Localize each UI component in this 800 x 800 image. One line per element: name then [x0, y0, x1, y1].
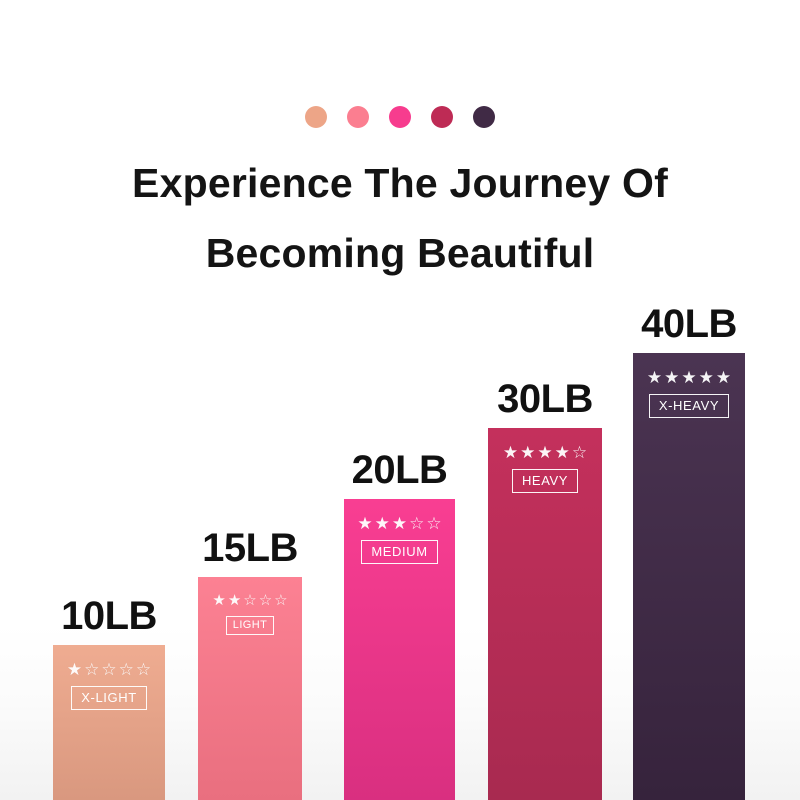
star-filled-icon: ★ [555, 444, 570, 461]
bar-group-30lb[interactable]: 30LB★★★★☆HEAVY [488, 428, 602, 800]
bar-group-20lb[interactable]: 20LB★★★☆☆MEDIUM [344, 499, 455, 800]
resistance-level-badge: X-HEAVY [649, 394, 729, 418]
resistance-bar-chart: 10LB★☆☆☆☆X-LIGHT15LB★★☆☆☆LIGHT20LB★★★☆☆M… [0, 0, 800, 800]
star-rating: ★★★★☆ [503, 444, 587, 461]
bar-group-15lb[interactable]: 15LB★★☆☆☆LIGHT [198, 577, 302, 800]
star-filled-icon: ★ [212, 593, 225, 608]
star-filled-icon: ★ [647, 369, 662, 386]
resistance-level-badge: LIGHT [226, 616, 274, 635]
poster-canvas: Experience The Journey Of Becoming Beaut… [0, 0, 800, 800]
resistance-level-badge: X-LIGHT [71, 686, 146, 710]
star-rating: ★★★★★ [647, 369, 731, 386]
star-filled-icon: ★ [228, 593, 241, 608]
bar-weight-label: 40LB [641, 302, 737, 347]
star-filled-icon: ★ [357, 515, 372, 532]
star-empty-icon: ☆ [572, 444, 587, 461]
bar-group-40lb[interactable]: 40LB★★★★★X-HEAVY [633, 353, 745, 800]
star-empty-icon: ☆ [136, 661, 151, 678]
star-rating: ★★☆☆☆ [212, 593, 287, 608]
bar-fill: ★★☆☆☆LIGHT [198, 577, 302, 800]
bar-fill: ★★★★☆HEAVY [488, 428, 602, 800]
star-empty-icon: ☆ [243, 593, 256, 608]
star-empty-icon: ☆ [409, 515, 424, 532]
star-filled-icon: ★ [681, 369, 696, 386]
star-filled-icon: ★ [537, 444, 552, 461]
resistance-level-badge: HEAVY [512, 469, 578, 493]
star-empty-icon: ☆ [259, 593, 272, 608]
star-empty-icon: ☆ [84, 661, 99, 678]
star-filled-icon: ★ [375, 515, 390, 532]
star-rating: ★★★☆☆ [357, 515, 441, 532]
star-rating: ★☆☆☆☆ [67, 661, 151, 678]
bar-fill: ★★★☆☆MEDIUM [344, 499, 455, 800]
bar-fill: ★☆☆☆☆X-LIGHT [53, 645, 165, 800]
star-empty-icon: ☆ [274, 593, 287, 608]
bar-weight-label: 20LB [352, 448, 448, 493]
star-filled-icon: ★ [664, 369, 679, 386]
star-filled-icon: ★ [716, 369, 731, 386]
resistance-level-badge: MEDIUM [361, 540, 437, 564]
bar-weight-label: 30LB [497, 377, 593, 422]
star-empty-icon: ☆ [119, 661, 134, 678]
bar-fill: ★★★★★X-HEAVY [633, 353, 745, 800]
star-filled-icon: ★ [67, 661, 82, 678]
star-filled-icon: ★ [699, 369, 714, 386]
star-filled-icon: ★ [503, 444, 518, 461]
star-filled-icon: ★ [520, 444, 535, 461]
bar-weight-label: 15LB [202, 526, 298, 571]
star-filled-icon: ★ [392, 515, 407, 532]
star-empty-icon: ☆ [101, 661, 116, 678]
bar-group-10lb[interactable]: 10LB★☆☆☆☆X-LIGHT [53, 645, 165, 800]
star-empty-icon: ☆ [426, 515, 441, 532]
bar-weight-label: 10LB [61, 594, 157, 639]
